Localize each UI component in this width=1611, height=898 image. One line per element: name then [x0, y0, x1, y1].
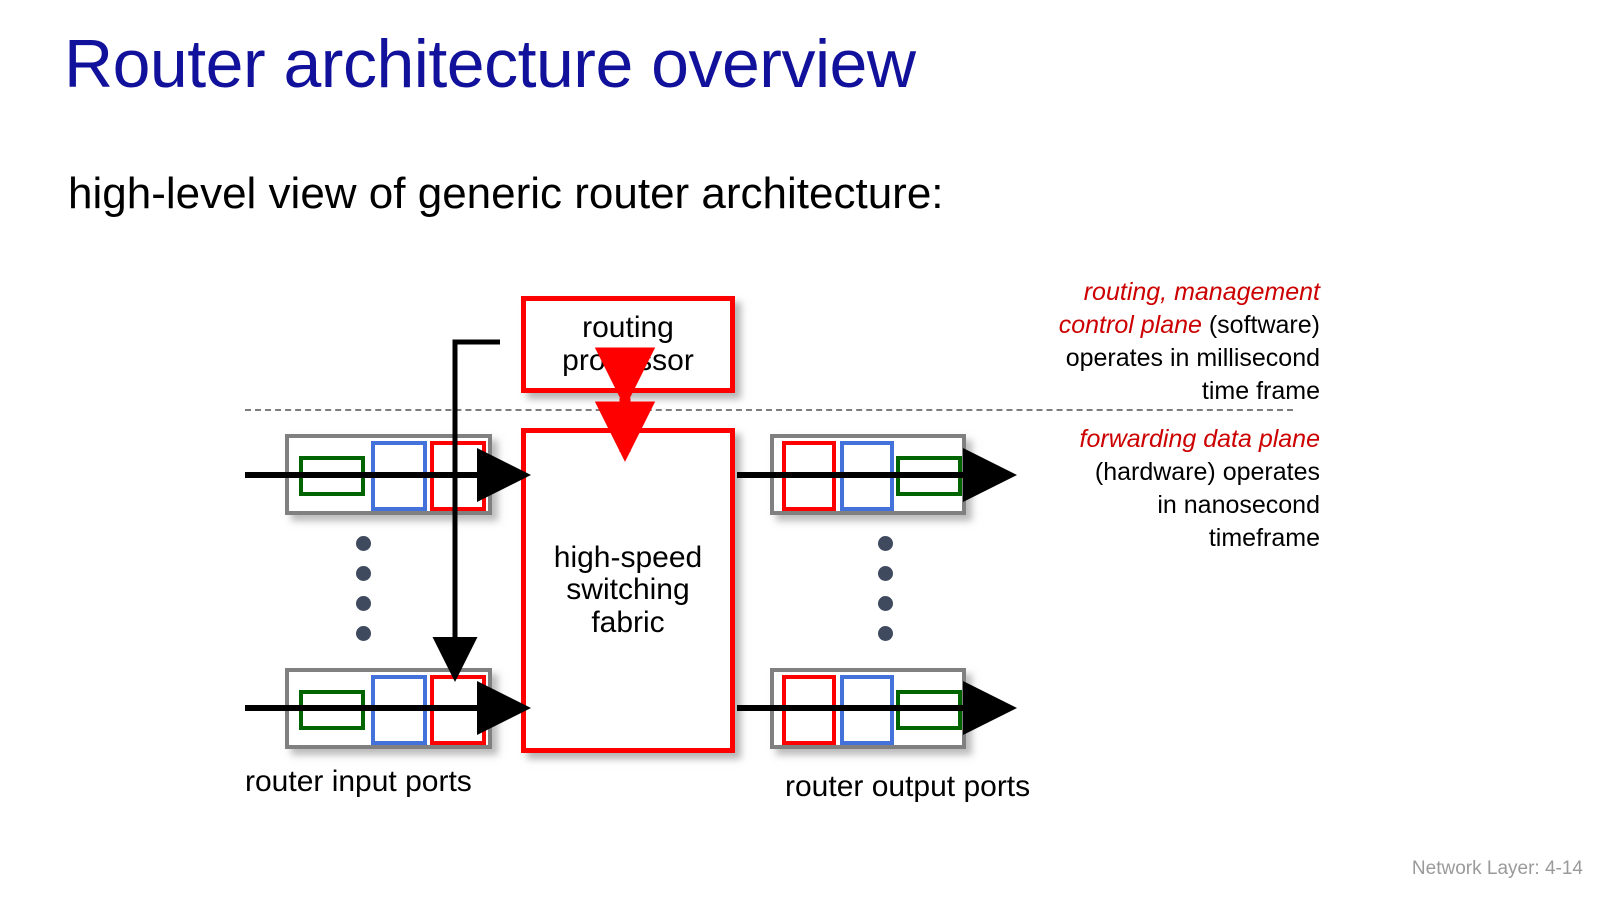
switching-fabric-label: high-speed switching fabric — [554, 542, 702, 639]
control-plane-annotation: routing, management control plane (softw… — [1000, 276, 1320, 408]
ellipsis-dot — [878, 536, 893, 551]
output-module-red — [782, 441, 836, 511]
output-module-green — [896, 456, 962, 496]
control-data-plane-divider — [245, 409, 1293, 411]
input-ports-caption: router input ports — [245, 765, 472, 799]
ellipsis-dot — [356, 596, 371, 611]
ellipsis-dot — [356, 536, 371, 551]
output-ports-caption: router output ports — [785, 770, 1030, 804]
input-port-bottom — [285, 668, 492, 749]
ellipsis-dot — [356, 566, 371, 581]
input-module-red — [430, 675, 486, 745]
ellipsis-dot — [878, 626, 893, 641]
data-plane-annotation: forwarding data plane (hardware) operate… — [1000, 423, 1320, 555]
control-plane-emphasis-line1: routing, management — [1084, 278, 1320, 306]
output-module-blue — [840, 675, 894, 745]
input-module-blue — [371, 675, 427, 745]
output-module-red — [782, 675, 836, 745]
ellipsis-dot — [878, 596, 893, 611]
input-port-top — [285, 434, 492, 515]
output-module-blue — [840, 441, 894, 511]
output-module-green — [896, 690, 962, 730]
switching-fabric-box: high-speed switching fabric — [521, 428, 735, 753]
router-architecture-diagram: routing processor high-speed switching f… — [0, 0, 1611, 898]
output-ports-ellipsis — [878, 536, 894, 656]
data-plane-line3: in nanosecond — [1157, 491, 1320, 519]
input-module-blue — [371, 441, 427, 511]
data-plane-emphasis-line1: forwarding data plane — [1080, 425, 1320, 453]
input-module-red — [430, 441, 486, 511]
routing-processor-box: routing processor — [521, 296, 735, 393]
input-module-green — [299, 456, 365, 496]
output-port-top — [770, 434, 966, 515]
data-plane-line2: (hardware) operates — [1095, 458, 1320, 486]
control-plane-line4: time frame — [1202, 377, 1320, 405]
slide-footer: Network Layer: 4-14 — [1412, 858, 1583, 880]
output-port-bottom — [770, 668, 966, 749]
control-plane-emphasis-line2: control plane — [1059, 311, 1202, 339]
ellipsis-dot — [356, 626, 371, 641]
input-ports-ellipsis — [356, 536, 372, 656]
input-module-green — [299, 690, 365, 730]
ellipsis-dot — [878, 566, 893, 581]
control-plane-software-text: (software) — [1202, 311, 1320, 339]
routing-processor-label: routing processor — [562, 312, 694, 377]
control-plane-line3: operates in millisecond — [1066, 344, 1320, 372]
data-plane-line4: timeframe — [1209, 524, 1320, 552]
